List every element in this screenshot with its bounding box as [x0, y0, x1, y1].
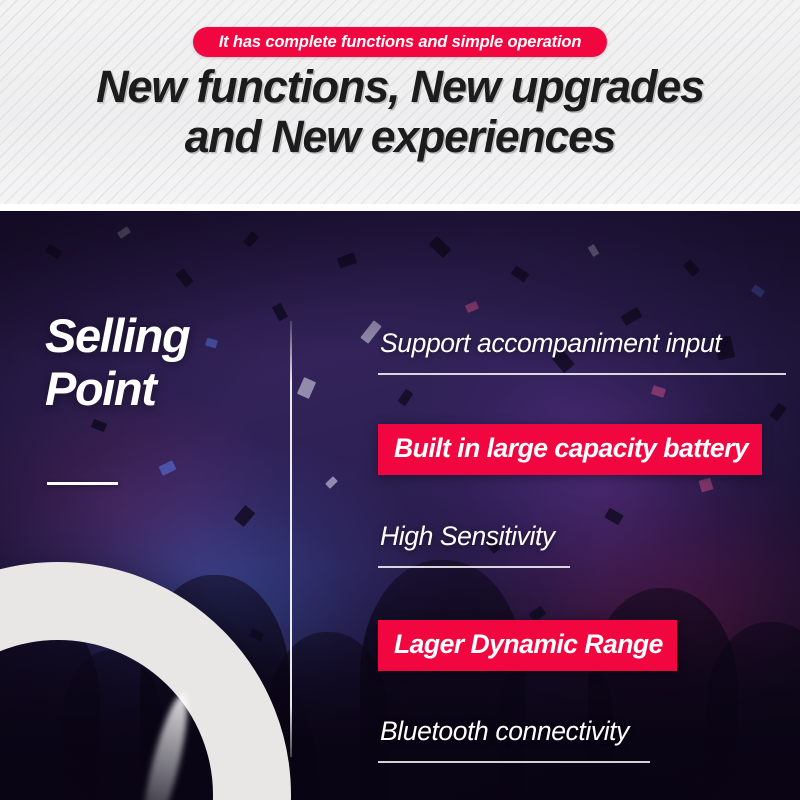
tagline-badge: It has complete functions and simple ope…: [193, 27, 608, 57]
feature-underline-4: [378, 761, 650, 763]
badge-container: It has complete functions and simple ope…: [0, 27, 800, 57]
feature-item-2: High Sensitivity: [378, 521, 570, 568]
feature-item-1: Built in large capacity battery: [378, 424, 762, 475]
tagline-badge-label: It has complete functions and simple ope…: [219, 33, 582, 52]
feature-list: Support accompaniment input Built in lar…: [0, 211, 800, 800]
feature-item-4: Bluetooth connectivity: [378, 716, 650, 763]
headline-line-1: New functions, New upgrades: [0, 62, 800, 112]
feature-item-0: Support accompaniment input: [378, 328, 786, 375]
feature-label-3: Lager Dynamic Range: [394, 629, 663, 660]
hero-section: Selling Point Support accompaniment inpu…: [0, 211, 800, 800]
feature-label-1: Built in large capacity battery: [394, 433, 748, 464]
page-title: New functions, New upgrades and New expe…: [0, 62, 800, 162]
headline-section: It has complete functions and simple ope…: [0, 0, 800, 211]
feature-label-0: Support accompaniment input: [378, 328, 786, 359]
feature-item-3: Lager Dynamic Range: [378, 620, 677, 671]
promo-banner: It has complete functions and simple ope…: [0, 0, 800, 800]
feature-label-4: Bluetooth connectivity: [378, 716, 650, 747]
feature-underline-0: [378, 373, 786, 375]
headline-line-2: and New experiences: [4, 112, 796, 162]
feature-underline-2: [378, 566, 570, 568]
feature-label-2: High Sensitivity: [378, 521, 570, 552]
